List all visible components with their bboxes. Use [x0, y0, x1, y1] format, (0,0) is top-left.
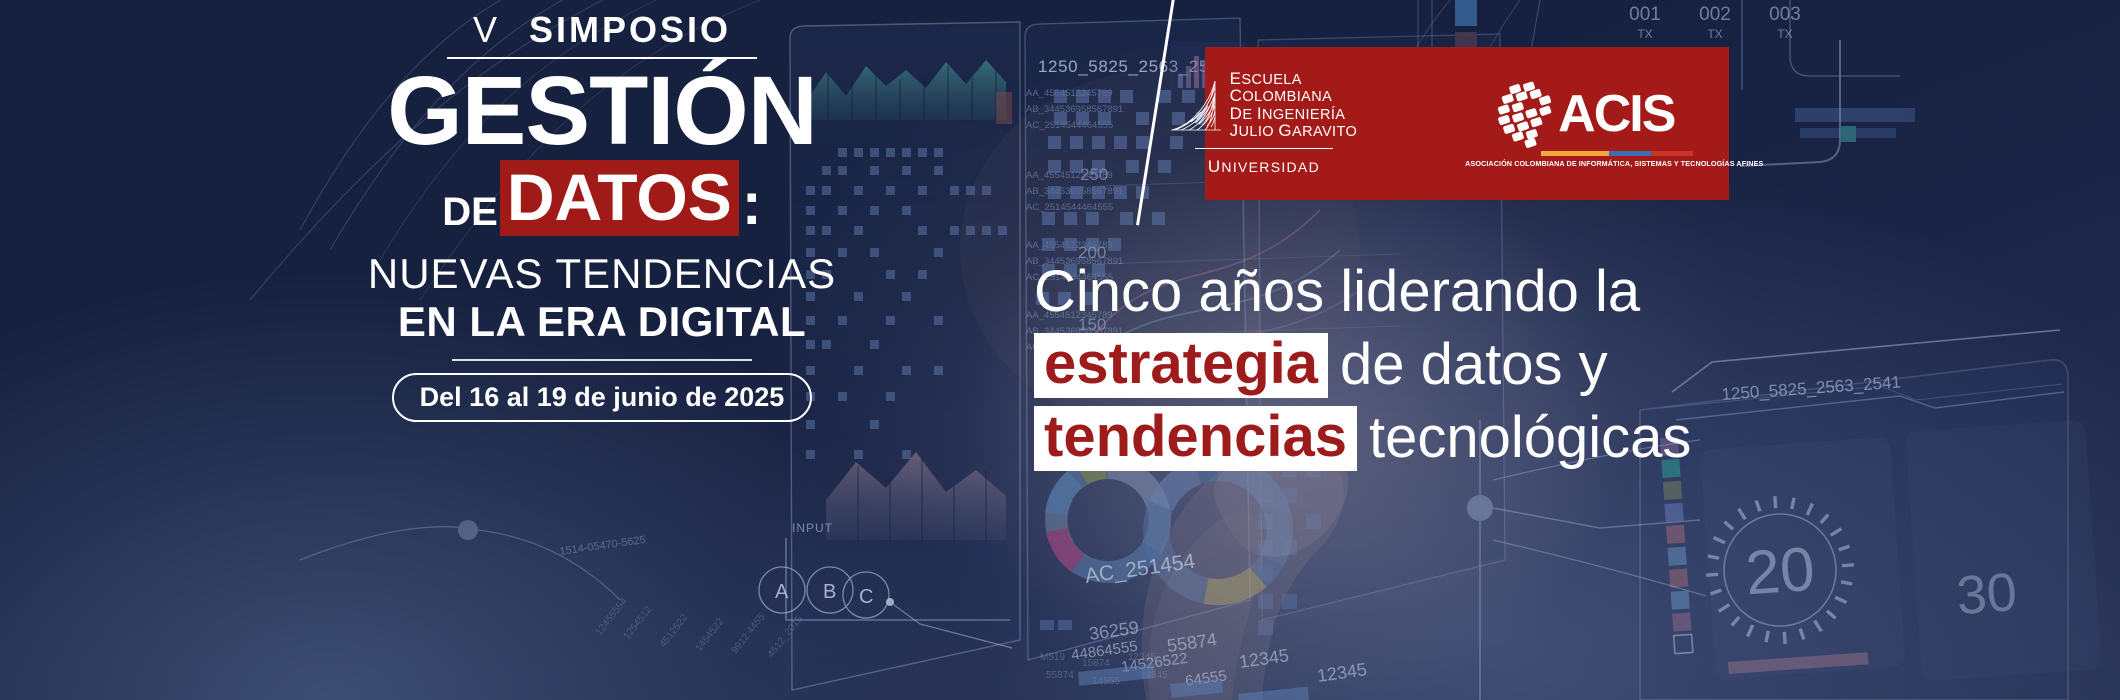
flag-blue [1609, 151, 1651, 156]
eci-logo-top: ESCUELA COLOMBIANA DE INGENIERÍA JULIO G… [1171, 71, 1358, 141]
eci-parabola-mark [1171, 79, 1223, 141]
svg-text:AA_4554512345789: AA_4554512345789 [1026, 170, 1113, 181]
svg-text:44864555: 44864555 [1070, 638, 1138, 664]
svg-text:M519: M519 [1040, 652, 1065, 663]
svg-text:20: 20 [1743, 535, 1817, 609]
svg-text:12345: 12345 [1128, 652, 1156, 663]
event-tagline: Cinco años liderando la estrategia de da… [1034, 258, 1691, 472]
tagline-line-3-rest: tecnológicas [1369, 404, 1691, 472]
acis-globe-icon [1494, 79, 1564, 149]
edition-numeral: V [473, 9, 503, 50]
svg-text:003: 003 [1769, 4, 1801, 25]
sponsor-logo-banner: ESCUELA COLOMBIANA DE INGENIERÍA JULIO G… [1205, 47, 1729, 200]
svg-text:AB_344536958567891: AB_344536958567891 [1026, 104, 1123, 115]
page-title: GESTIÓN [352, 63, 852, 159]
svg-text:12455554: 12455554 [594, 596, 630, 638]
acis-logo-main: ACIS [1494, 79, 1674, 149]
svg-text:12345: 12345 [1316, 659, 1368, 686]
tagline-line-1-text: Cinco años liderando la [1034, 258, 1640, 326]
eci-line-3: DE INGENIERÍA [1230, 106, 1358, 124]
svg-text:AA_4554512345789: AA_4554512345789 [1026, 88, 1113, 99]
svg-text:1254512: 1254512 [622, 604, 655, 642]
eci-logo: ESCUELA COLOMBIANA DE INGENIERÍA JULIO G… [1171, 71, 1358, 177]
svg-text:15874: 15874 [1082, 658, 1110, 669]
tagline-line-2-rest: de datos y [1340, 331, 1608, 399]
eci-line-1: ESCUELA [1230, 71, 1358, 89]
flag-yellow [1541, 151, 1609, 156]
svg-text:4512_2015: 4512_2015 [766, 613, 806, 660]
eci-divider [1195, 148, 1333, 149]
svg-text:TX: TX [1707, 27, 1722, 41]
svg-text:AB_344536958567891: AB_344536958567891 [1026, 186, 1123, 197]
edition-word: SIMPOSIO [529, 9, 731, 50]
subtitle-line-2: EN LA ERA DIGITAL [352, 299, 852, 345]
svg-text:14526522: 14526522 [1120, 650, 1188, 676]
svg-text:1250_5825_2563_2541: 1250_5825_2563_2541 [1721, 373, 1902, 404]
title-de-word: DE [442, 192, 498, 236]
event-banner: INPUT A B C 1514-05470-5625 1250_5825_25… [0, 0, 2120, 700]
event-date-pill: Del 16 al 19 de junio de 2025 [392, 373, 813, 422]
title-colon: : [742, 174, 762, 236]
svg-text:4512522: 4512522 [658, 612, 691, 650]
tagline-highlight-estrategia: estrategia [1034, 333, 1328, 398]
svg-text:12345: 12345 [1238, 645, 1290, 672]
svg-text:1514-05470-5625: 1514-05470-5625 [559, 534, 647, 558]
svg-text:30: 30 [1955, 562, 2019, 626]
acis-flag-bar [1541, 151, 1693, 156]
svg-text:1454522: 1454522 [694, 616, 727, 654]
svg-text:002: 002 [1699, 4, 1731, 25]
svg-text:AA_4554512345789: AA_4554512345789 [1026, 240, 1113, 251]
svg-text:55874: 55874 [1166, 629, 1218, 656]
svg-text:9912 4455: 9912 4455 [730, 611, 768, 655]
diagonal-accent-line [1136, 0, 1175, 225]
edition-line: V SIMPOSIO [352, 8, 852, 52]
svg-text:001: 001 [1629, 4, 1661, 25]
svg-text:64555: 64555 [1184, 667, 1228, 690]
svg-text:250: 250 [1080, 165, 1108, 184]
title-rule-bottom [452, 359, 752, 361]
acis-wordmark: ACIS [1558, 88, 1674, 140]
svg-text:55874: 55874 [1046, 670, 1074, 681]
svg-text:36259: 36259 [1088, 617, 1140, 644]
flag-red [1651, 151, 1693, 156]
event-title-block: V SIMPOSIO GESTIÓN DE DATOS : NUEVAS TEN… [352, 8, 852, 422]
svg-text:14555: 14555 [1092, 676, 1120, 687]
subtitle-line-1: NUEVAS TENDENCIAS [352, 250, 852, 298]
eci-subtitle: UNIVERSIDAD [1208, 157, 1320, 177]
acis-logo: ACIS ASOCIACIÓN COLOMBIANA DE INFORMÁTIC… [1405, 79, 1763, 168]
svg-text:A: A [775, 581, 789, 603]
eci-line-2: COLOMBIANA [1230, 88, 1358, 106]
acis-tagline: ASOCIACIÓN COLOMBIANA DE INFORMÁTICA, SI… [1465, 159, 1763, 168]
svg-text:TX: TX [1637, 27, 1652, 41]
svg-text:B: B [823, 581, 836, 603]
tagline-highlight-tendencias: tendencias [1034, 406, 1357, 471]
svg-text:AC_2514544464555: AC_2514544464555 [1026, 202, 1113, 213]
svg-text:AC_2514544464555: AC_2514544464555 [1026, 120, 1113, 131]
tagline-line-3: tendencias tecnológicas [1034, 404, 1691, 472]
svg-text:C: C [859, 586, 873, 608]
svg-text:INPUT: INPUT [792, 521, 833, 535]
svg-text:TX: TX [1777, 27, 1792, 41]
eci-name-text: ESCUELA COLOMBIANA DE INGENIERÍA JULIO G… [1230, 71, 1358, 141]
svg-text:12345: 12345 [1140, 670, 1168, 681]
title-datos-row: DE DATOS : [352, 160, 852, 236]
eci-line-4: JULIO GARAVITO [1230, 123, 1358, 141]
tagline-line-1: Cinco años liderando la [1034, 258, 1691, 326]
tagline-line-2: estrategia de datos y [1034, 331, 1691, 399]
svg-text:AC_251454: AC_251454 [1083, 550, 1196, 588]
title-highlight-datos: DATOS [500, 160, 739, 236]
